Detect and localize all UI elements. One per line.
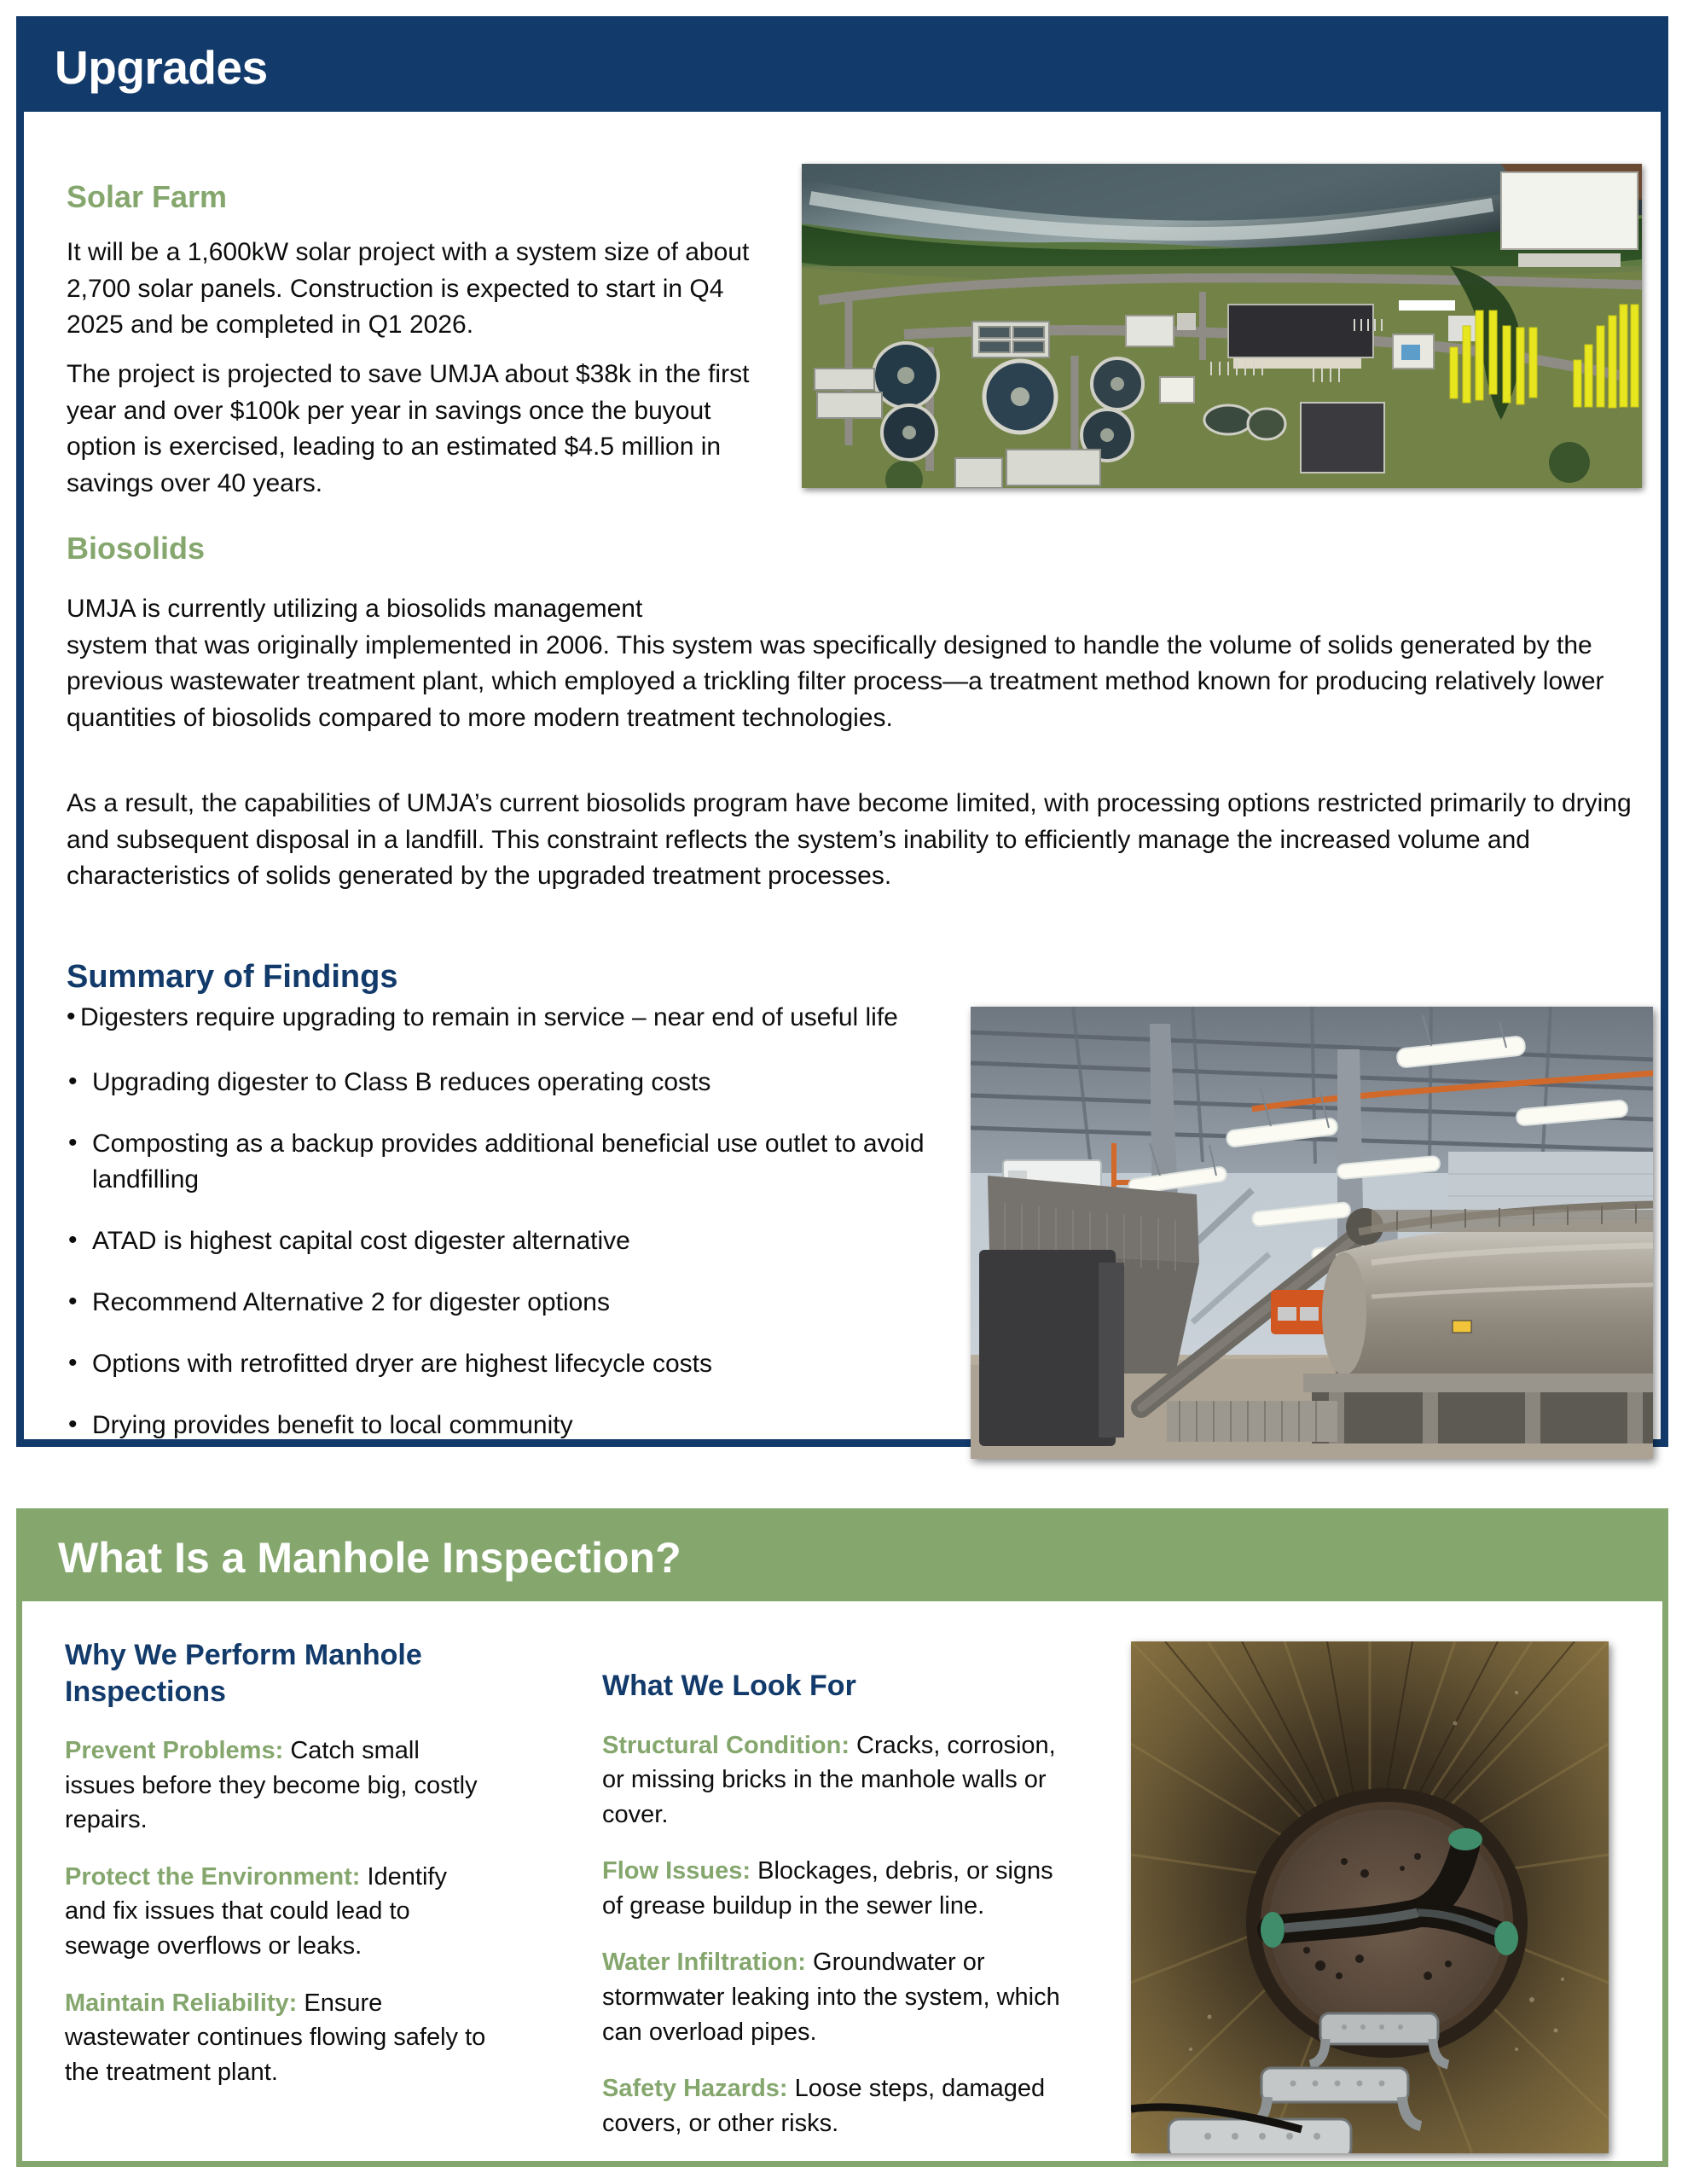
item-lead: Structural Condition: <box>602 1732 850 1759</box>
list-item: Maintain Reliability: Ensure wastewater … <box>65 1986 491 2090</box>
list-item: Drying provides benefit to local communi… <box>67 1408 979 1443</box>
item-lead: Protect the Environment: <box>65 1863 360 1891</box>
item-lead: Maintain Reliability: <box>65 1989 297 2017</box>
solar-paragraph-2: The project is projected to save UMJA ab… <box>67 357 779 502</box>
list-item: Safety Hazards: Loose steps, damaged cov… <box>602 2071 1063 2140</box>
upgrades-header: Upgrades <box>24 24 1661 112</box>
list-item: Structural Condition: Cracks, corrosion,… <box>602 1728 1063 1833</box>
summary-of-findings-list: Digesters require upgrading to remain in… <box>67 1000 979 1469</box>
list-item: Options with retrofitted dryer are highe… <box>67 1346 979 1382</box>
manhole-body: Why We Perform Manhole Inspections Preve… <box>22 1601 1662 2161</box>
list-item: Protect the Environment: Identify and fi… <box>65 1860 491 1964</box>
upgrades-title: Upgrades <box>55 44 268 91</box>
aerial-photo-graphic <box>802 164 1642 488</box>
list-item: Composting as a backup provides addition… <box>67 1126 979 1198</box>
what-we-look-for-heading: What We Look For <box>602 1668 1063 1705</box>
digester-photo-graphic <box>971 1007 1653 1459</box>
manhole-photo-graphic <box>1131 1641 1609 2153</box>
aerial-treatment-plant-photo <box>802 164 1642 488</box>
upgrades-body: Solar Farm It will be a 1,600kW solar pr… <box>24 112 1661 1439</box>
digester-interior-photo <box>971 1007 1653 1459</box>
list-item: Flow Issues: Blockages, debris, or signs… <box>602 1854 1063 1923</box>
manhole-header: What Is a Manhole Inspection? <box>22 1514 1662 1601</box>
list-item: Water Infiltration: Groundwater or storm… <box>602 1945 1063 2049</box>
item-lead: Flow Issues: <box>602 1857 751 1885</box>
biosolids-heading: Biosolids <box>67 531 205 566</box>
upgrades-panel: Upgrades Solar Farm It will be a 1,600kW… <box>16 16 1668 1447</box>
list-item: Upgrading digester to Class B reduces op… <box>67 1065 979 1101</box>
why-we-perform-column: Why We Perform Manhole Inspections Preve… <box>65 1637 491 2111</box>
list-item: Recommend Alternative 2 for digester opt… <box>67 1285 979 1321</box>
item-lead: Safety Hazards: <box>602 2075 788 2102</box>
item-lead: Prevent Problems: <box>65 1737 283 1764</box>
why-we-perform-heading: Why We Perform Manhole Inspections <box>65 1637 491 1710</box>
manhole-inspection-panel: What Is a Manhole Inspection? Why We Per… <box>16 1508 1668 2167</box>
list-item: ATAD is highest capital cost digester al… <box>67 1223 979 1259</box>
biosolids-paragraph-1: UMJA is currently utilizing a biosolids … <box>67 591 1641 736</box>
manhole-interior-photo <box>1131 1641 1609 2153</box>
biosolids-paragraph-1-firstline: UMJA is currently utilizing a biosolids … <box>67 591 783 628</box>
solar-paragraph-1: It will be a 1,600kW solar project with … <box>67 235 779 344</box>
manhole-title: What Is a Manhole Inspection? <box>58 1536 681 1579</box>
solar-farm-heading: Solar Farm <box>67 180 227 214</box>
list-item: Digesters require upgrading to remain in… <box>67 1000 979 1036</box>
biosolids-paragraph-1-rest: system that was originally implemented i… <box>67 631 1604 732</box>
item-lead: Water Infiltration: <box>602 1949 806 1976</box>
what-we-look-for-column: What We Look For Structural Condition: C… <box>602 1668 1063 2163</box>
list-item: Prevent Problems: Catch small issues bef… <box>65 1734 491 1838</box>
biosolids-paragraph-2: As a result, the capabilities of UMJA’s … <box>67 786 1641 895</box>
summary-of-findings-heading: Summary of Findings <box>67 960 397 996</box>
